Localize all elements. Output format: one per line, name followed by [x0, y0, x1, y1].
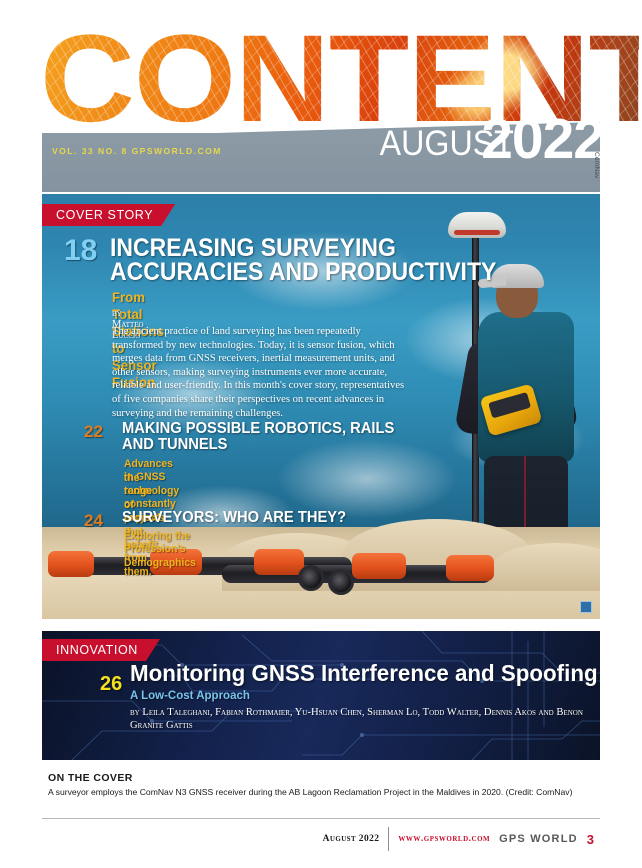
footer-url[interactable]: www.gpsworld.com	[398, 834, 490, 844]
innovation-flag: INNOVATION	[42, 639, 160, 661]
feature-page-number: 24	[84, 512, 103, 529]
pipe-float	[48, 551, 94, 577]
corner-badge	[580, 601, 592, 613]
feature-subtitle-line1: Exploring the Profession's Demographics	[124, 530, 196, 570]
footer-page-number: 3	[587, 832, 594, 847]
on-the-cover-heading: ON THE COVER	[48, 772, 133, 784]
footer-date: August 2022	[323, 834, 380, 844]
footer-vertical-rule	[388, 827, 389, 851]
feature-page-number: 22	[84, 423, 103, 440]
photo-credit-vertical: ComNav	[593, 152, 600, 178]
sand-dune	[492, 543, 600, 591]
innovation-subtitle: A Low-Cost Approach	[130, 690, 250, 702]
issue-year: 2022	[481, 106, 604, 172]
cover-story-flag-label: COVER STORY	[56, 208, 153, 222]
innovation-panel[interactable]: INNOVATION 26 Monitoring GNSS Interferen…	[42, 631, 600, 760]
innovation-flag-label: INNOVATION	[56, 643, 138, 657]
pipe-float	[352, 553, 406, 579]
gnss-antenna	[448, 212, 506, 238]
feature-headline-line1: MAKING POSSIBLE ROBOTICS, RAILS	[122, 421, 394, 437]
feature-body-copy: The ancient practice of land surveying h…	[112, 325, 412, 420]
pipe-float	[254, 549, 304, 575]
feature-headline-line2: ACCURACIES AND PRODUCTIVITY	[110, 260, 496, 286]
masthead: CONTENTS VOL. 33 NO. 8 GPSWORLD.COM AUGU…	[0, 0, 642, 200]
feature-headline-line1: SURVEYORS: WHO ARE THEY?	[122, 510, 346, 526]
feature-headline-line2: AND TUNNELS	[122, 437, 227, 453]
pipe-opening	[298, 565, 324, 591]
contents-page: CONTENTS VOL. 33 NO. 8 GPSWORLD.COM AUGU…	[0, 0, 642, 868]
issue-line: VOL. 33 NO. 8 GPSWORLD.COM	[52, 146, 222, 156]
innovation-title: Monitoring GNSS Interference and Spoofin…	[130, 660, 598, 687]
pipe-opening	[328, 569, 354, 595]
innovation-authors: by Leila Taleghani, Fabian Rothmaier, Yu…	[130, 706, 600, 732]
on-the-cover-caption: A surveyor employs the ComNav N3 GNSS re…	[48, 787, 588, 798]
feature-page-number: 18	[64, 236, 97, 266]
pipe-float	[446, 555, 494, 581]
footer-divider	[42, 818, 600, 819]
cover-story-panel: COVER STORY 18 INCREASING SURVEYING ACCU…	[42, 194, 600, 619]
cover-story-flag: COVER STORY	[42, 204, 175, 226]
footer-brand: GPS WORLD	[499, 833, 578, 845]
surveyor-cap	[490, 264, 544, 288]
footer: August 2022 www.gpsworld.com GPS WORLD 3	[42, 824, 600, 854]
innovation-page-number: 26	[100, 673, 122, 696]
